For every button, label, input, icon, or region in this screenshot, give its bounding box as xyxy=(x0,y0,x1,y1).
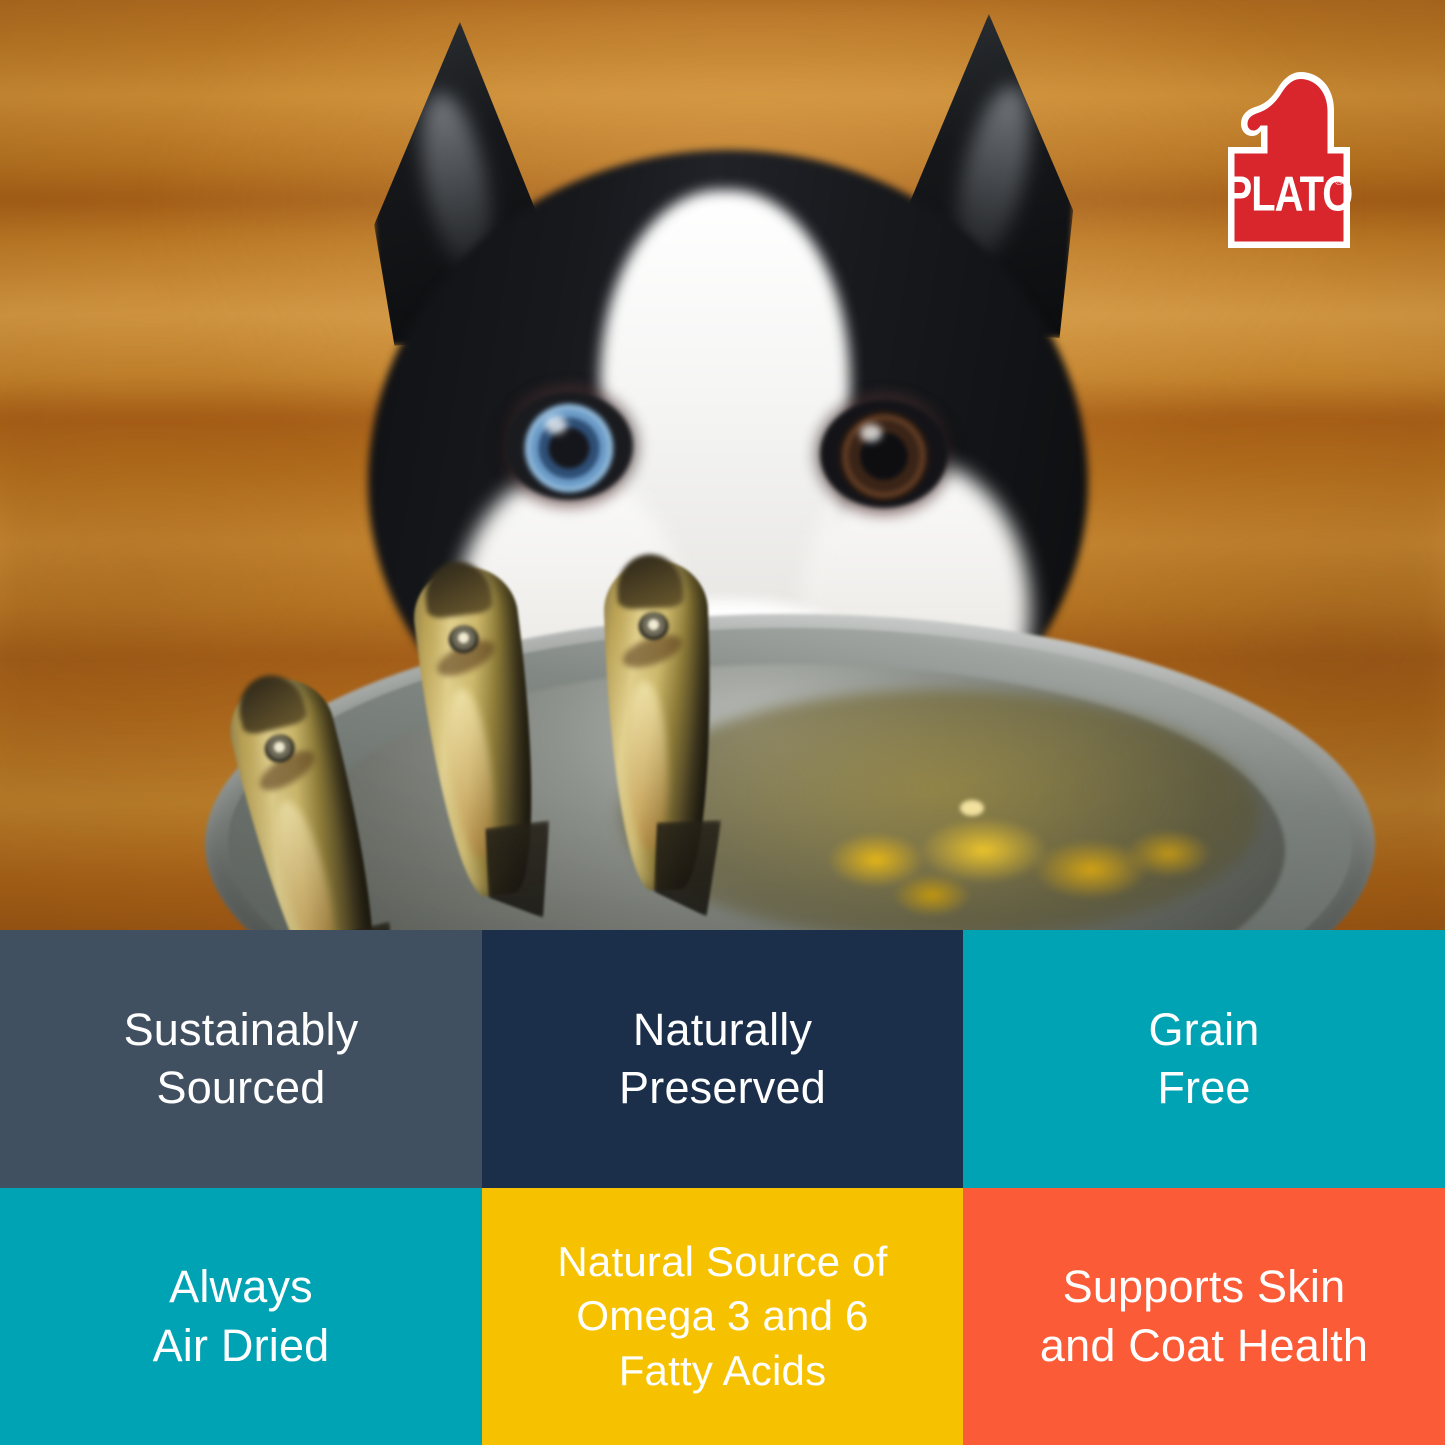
product-feature-ad: PLATO ® Sustainably Sourced Naturally Pr… xyxy=(0,0,1445,1445)
feature-label: Naturally Preserved xyxy=(619,1001,826,1118)
eye-glint-right xyxy=(860,424,882,442)
dog-eye-blue xyxy=(505,392,633,500)
feature-label: Always Air Dried xyxy=(153,1258,330,1375)
feature-label: Grain Free xyxy=(1148,1001,1259,1118)
food-crumb xyxy=(960,800,984,816)
feature-tile-always-air-dried: Always Air Dried xyxy=(0,1188,482,1445)
feature-tile-skin-and-coat: Supports Skin and Coat Health xyxy=(963,1188,1445,1445)
feature-tile-naturally-preserved: Naturally Preserved xyxy=(482,930,963,1188)
feature-grid: Sustainably Sourced Naturally Preserved … xyxy=(0,930,1445,1445)
logo-wordmark: PLATO xyxy=(1226,165,1353,221)
hero-photo: PLATO ® xyxy=(0,0,1445,930)
feature-label: Natural Source of Omega 3 and 6 Fatty Ac… xyxy=(557,1235,887,1399)
eye-glint-left xyxy=(545,416,567,434)
feature-tile-omega-3-and-6: Natural Source of Omega 3 and 6 Fatty Ac… xyxy=(482,1188,963,1445)
registered-trademark-icon: ® xyxy=(1335,176,1343,188)
feature-label: Sustainably Sourced xyxy=(124,1001,359,1118)
feature-tile-sustainably-sourced: Sustainably Sourced xyxy=(0,930,482,1188)
yellow-food-in-bowl xyxy=(790,780,1220,930)
feature-label: Supports Skin and Coat Health xyxy=(1040,1258,1368,1375)
feature-tile-grain-free: Grain Free xyxy=(963,930,1445,1188)
plato-logo: PLATO ® xyxy=(1222,70,1356,252)
dog-eye-brown xyxy=(820,400,948,508)
